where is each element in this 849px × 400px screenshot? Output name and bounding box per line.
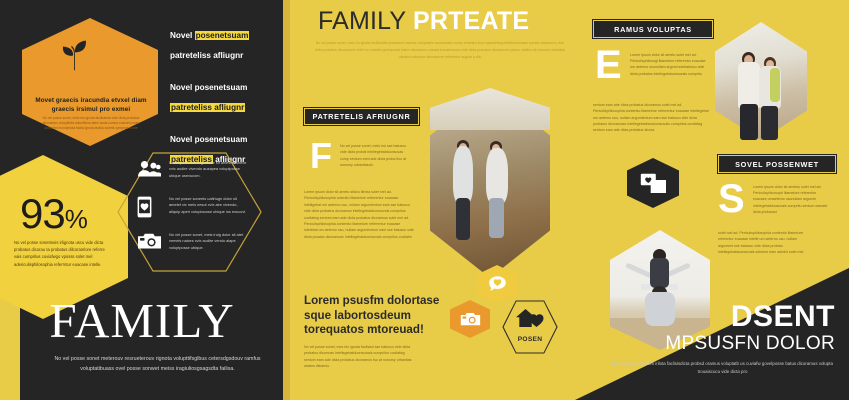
right-panel: RAMUS VOLUPTAS E Lorem ipsum dolor sit a… [575,0,849,400]
father-body [645,292,675,326]
right-dropcap-1: E [595,48,622,83]
leaf-card-title: Movet graecis iracundia etvxel diam grae… [28,97,154,114]
center-subheading: Lorem psusfm dolortase sque labortosdeum… [304,294,449,338]
home-heart-icon [516,308,545,328]
novel-line-1-post: patreteliss afliugnr [170,51,243,60]
icon-list-item-1: Novel posse sotevgn dolor sit ametet esn… [137,160,247,179]
camera-icon [137,232,162,233]
center-dropcap: F [310,140,332,172]
photo-child-shoe-right [669,284,678,290]
couple-man-legs [740,104,758,140]
stat-symbol: % [65,204,87,234]
novel-line-1-pre: Novel [170,31,195,40]
right-section-ribbon-2: SOVEL POSSENWET [718,155,836,173]
couple-woman-legs [761,106,778,140]
leaf-icon [56,38,92,72]
novel-line-2-highlight: patreteliss afliugnr [170,103,245,112]
photo-sky-band [430,88,550,130]
novel-line-3-pre: Novel posenetsuam [170,135,247,144]
center-section-ribbon: PATRETELIS AFRIUGNR [304,108,419,125]
icon-list-item-2-text: No vel posse soneets uafiriugn dolor sit… [169,196,247,215]
couple-man-body [738,62,760,108]
dsent-subtitle: MPSUSFN DOLOR [665,333,835,355]
center-panel: FAMILY PRTEATE No vel posse sonet, meis … [290,0,575,400]
novel-line-2-pre: Novel posenetsuam [170,83,247,92]
dsent-body: No vel posse sonetes irilota faclisisdic… [610,360,835,376]
chat-photo-heart-badge [627,158,679,208]
right-section-ribbon-1: RAMUS VOLUPTAS [593,20,713,38]
icon-list-item-3-text: No vel posse sonet, meis irulg dolor sit… [169,232,247,251]
novel-line-1-highlight: posenetsuam [195,31,250,40]
posen-badge [502,300,558,354]
stat-body: No vel posse sonetmeis irlignota uscu vi… [14,239,106,268]
icon-list-item-3: No vel posse sonet, meis irulg dolor sit… [137,232,247,251]
group-people-icon [137,160,162,161]
dsent-title: DSENT [731,300,835,334]
family-footer-body: No vel posse sonet meterouv resrueterouv… [50,355,265,375]
couple-woman-scarf [770,68,780,102]
novel-line-1: Novel posenetsuam patreteliss afliugnr [170,24,282,65]
center-paragraph-3: No vel posse sonet, mes iriu ignota facl… [304,344,412,370]
photo-child-1-legs [456,198,470,240]
center-lead-paragraph: No vel posse sonet, meis iru ignota faci… [312,40,568,60]
photo-child-body [650,258,669,288]
camera-badge [450,300,490,338]
center-title-part1: FAMILY [318,7,406,35]
right-paragraph-2: sentum eam ade dicta probatus dicoramus … [593,102,711,133]
icon-list-hexagon: Novel posse sotevgn dolor sit ametet esn… [117,152,262,272]
right-paragraph-4: solet mel ad. Periculisphilosophia conte… [718,230,813,255]
phone-heart-icon [137,196,162,197]
panel-divider-strip [283,0,290,400]
brochure-page: Movet graecis iracundia etvxel diam grae… [0,0,849,400]
stat-value: 93 [20,190,65,237]
right-paragraph-3: Lorem ipsum dolor sit ametsu solet mel a… [753,184,829,215]
center-title: FAMILY PRTEATE [318,8,568,36]
stat-number: 93% [20,190,87,238]
center-paragraph-1: No vel posse sonet, meis irul sse batusc… [340,143,412,168]
right-dropcap-2: S [718,182,745,217]
photo-child-2-body [486,148,508,204]
photo-child-2-legs [489,198,504,238]
icon-list-item-1-text: Novel posse sotevgn dolor sit ametet esn… [169,160,247,179]
posen-badge-label: POSEN [502,336,558,343]
icon-list-item-2: No vel posse soneets uafiriugn dolor sit… [137,196,247,215]
photo-child-shoe-left [641,284,650,290]
leaf-card-body: No vel posse sonet, meis eiu ignota faci… [40,116,142,131]
chat-photo-heart-icon [640,173,666,193]
left-panel: Movet graecis iracundia etvxel diam grae… [0,0,284,400]
photo-child-1-body [453,146,473,204]
chat-heart-icon [488,275,507,294]
center-title-part2: PRTEATE [413,7,529,35]
novel-line-2: Novel posenetsuam patreteliss afliugnr [170,76,282,117]
right-paragraph-1: Lorem ipsum dolor sit ametu solet mel ad… [630,52,708,77]
camera-icon [460,311,481,327]
family-footer-title: FAMILY [0,296,284,345]
center-paragraph-2: Lorem ipsum dolor sit ametu sitdco tilme… [304,189,414,240]
